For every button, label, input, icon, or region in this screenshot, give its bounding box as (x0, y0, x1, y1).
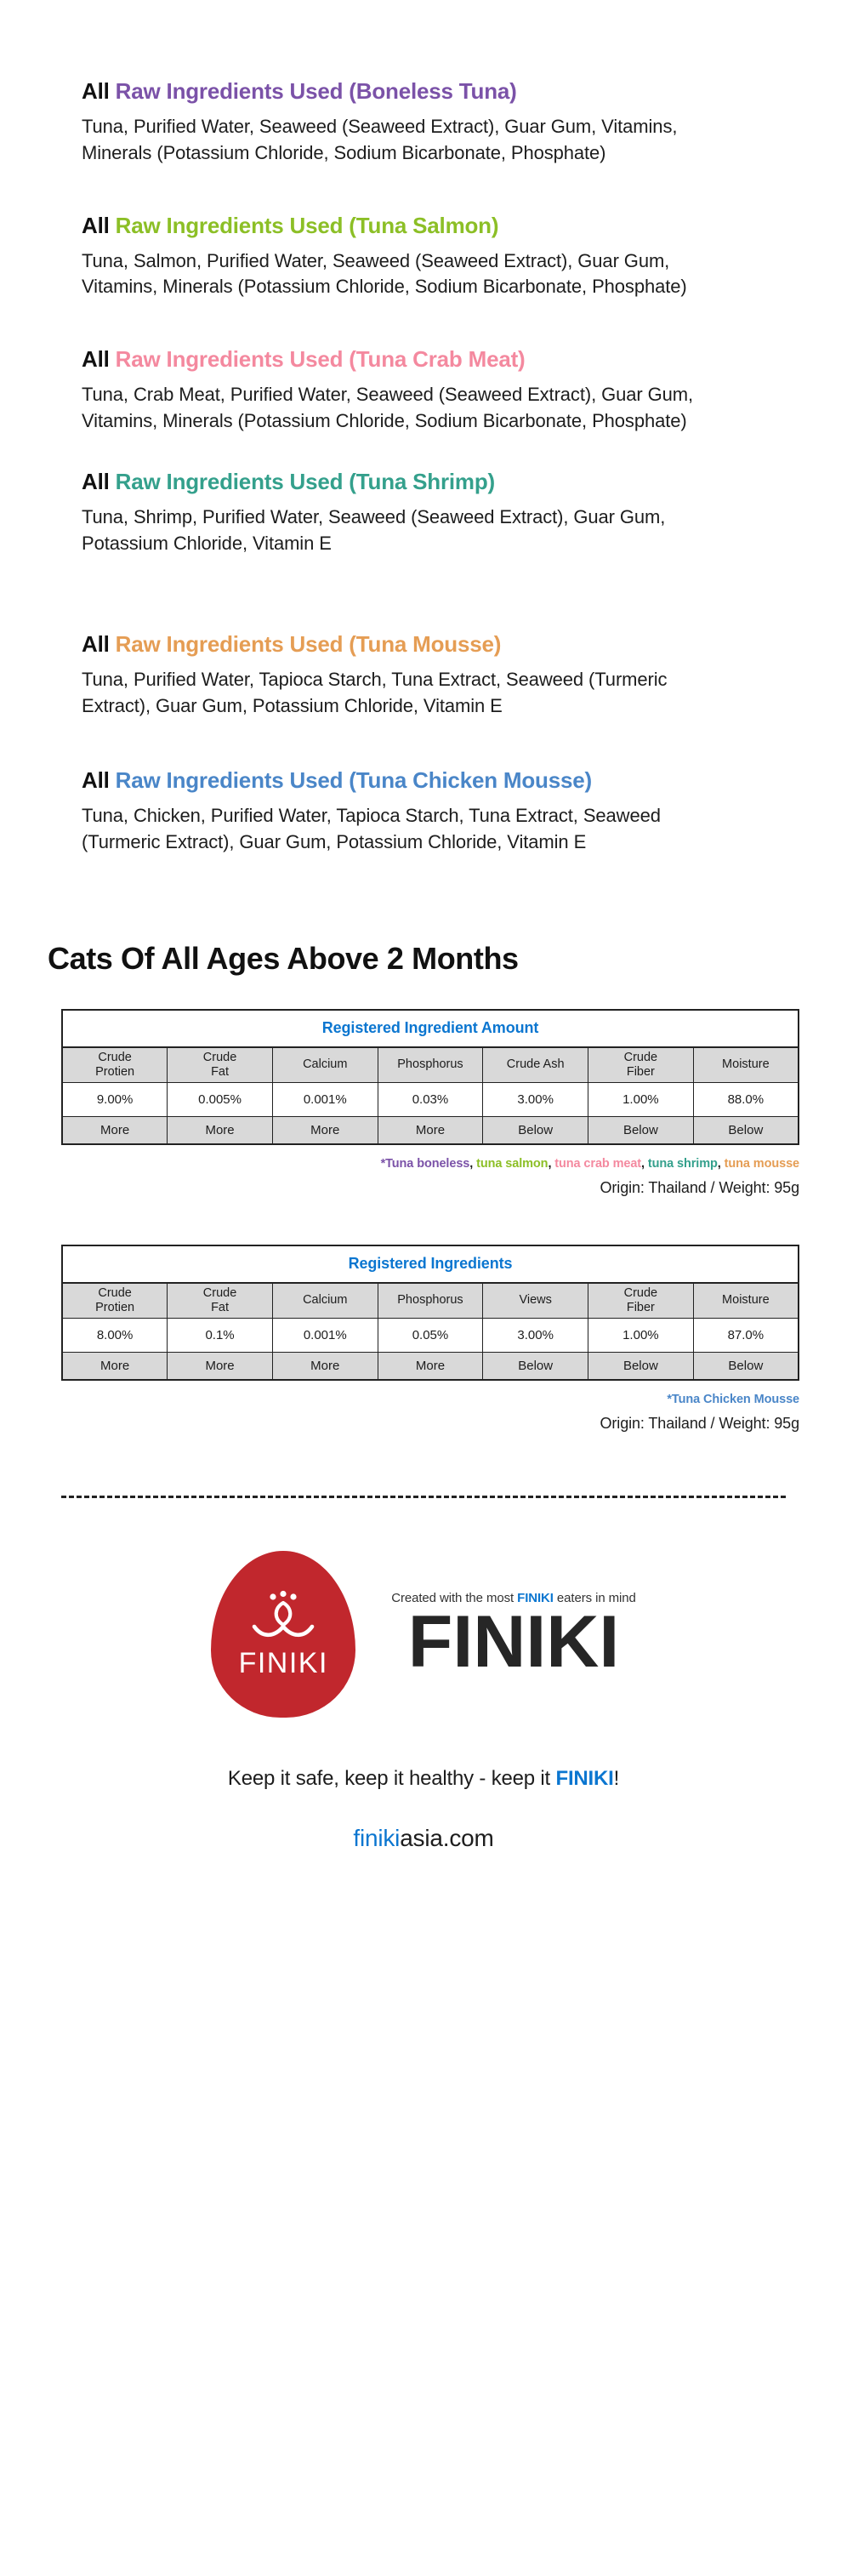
ingredients-section: All Raw Ingredients Used (Boneless Tuna)… (0, 0, 847, 856)
ingredient-block: All Raw Ingredients Used (Tuna Salmon) T… (0, 213, 847, 301)
cell-value: 1.00% (588, 1319, 694, 1353)
column-header: CrudeProtien (62, 1283, 168, 1319)
cell-comparison: Below (483, 1353, 588, 1380)
ingredient-block: All Raw Ingredients Used (Tuna Chicken M… (0, 767, 847, 856)
website-url[interactable]: finikiasia.com (0, 1825, 847, 1852)
cell-value: 0.001% (272, 1083, 378, 1117)
brand-name: FINIKI (408, 1607, 619, 1678)
footnote-part: , (469, 1157, 476, 1171)
website-url-brand: finiki (353, 1825, 400, 1851)
cell-value: 88.0% (693, 1083, 799, 1117)
footnote-part: *Tuna boneless (381, 1157, 470, 1171)
website-url-rest: asia.com (400, 1825, 493, 1851)
cell-comparison: More (272, 1117, 378, 1144)
table-footnote: *Tuna boneless, tuna salmon, tuna crab m… (61, 1157, 799, 1171)
table-row: 9.00% 0.005% 0.001% 0.03% 3.00% 1.00% 88… (62, 1083, 799, 1117)
cell-value: 0.03% (378, 1083, 483, 1117)
ingredient-block: All Raw Ingredients Used (Tuna Mousse) T… (0, 631, 847, 720)
cell-value: 1.00% (588, 1083, 694, 1117)
column-header: Moisture (693, 1283, 799, 1319)
ingredient-title-prefix: All (82, 767, 110, 793)
product-info-page: All Raw Ingredients Used (Boneless Tuna)… (0, 0, 847, 1852)
ingredient-block: All Raw Ingredients Used (Tuna Shrimp) T… (0, 469, 847, 557)
cell-comparison: More (378, 1117, 483, 1144)
footnote-part: tuna salmon (476, 1157, 548, 1171)
cell-comparison: Below (483, 1117, 588, 1144)
column-header: CrudeProtien (62, 1047, 168, 1083)
column-header: CrudeFiber (588, 1047, 694, 1083)
ingredient-title-prefix: All (82, 346, 110, 372)
cell-comparison: More (168, 1353, 273, 1380)
nutrition-tables: Registered Ingredient Amount CrudeProtie… (0, 1009, 847, 1433)
logo-wordmark: FINIKI (239, 1647, 328, 1680)
ingredient-title: All Raw Ingredients Used (Tuna Salmon) (82, 213, 796, 239)
cell-comparison: More (168, 1117, 273, 1144)
cell-value: 87.0% (693, 1319, 799, 1353)
ingredient-list: Tuna, Crab Meat, Purified Water, Seaweed… (82, 382, 694, 435)
footnote-part: *Tuna Chicken Mousse (667, 1393, 799, 1406)
ingredient-title-variant: Raw Ingredients Used (Boneless Tuna) (116, 78, 517, 104)
footnote-part: , (718, 1157, 725, 1171)
ingredient-list: Tuna, Purified Water, Seaweed (Seaweed E… (82, 114, 694, 167)
table-header-row: CrudeProtien CrudeFat Calcium Phosphorus… (62, 1047, 799, 1083)
ingredient-block: All Raw Ingredients Used (Boneless Tuna)… (0, 78, 847, 167)
column-header: Phosphorus (378, 1283, 483, 1319)
cat-face-icon (247, 1589, 319, 1644)
slogan-post: ! (614, 1767, 619, 1790)
cell-comparison: Below (588, 1353, 694, 1380)
table-origin: Origin: Thailand / Weight: 95g (61, 1415, 799, 1433)
column-header: Calcium (272, 1283, 378, 1319)
ingredient-title-variant: Raw Ingredients Used (Tuna Crab Meat) (116, 346, 526, 372)
column-header: CrudeFat (168, 1283, 273, 1319)
cell-comparison: More (378, 1353, 483, 1380)
footnote-part: tuna crab meat (554, 1157, 641, 1171)
slogan: Keep it safe, keep it healthy - keep it … (0, 1767, 847, 1791)
column-header: Phosphorus (378, 1047, 483, 1083)
table-caption: Registered Ingredients (62, 1245, 799, 1283)
table-caption: Registered Ingredient Amount (62, 1010, 799, 1047)
ingredient-title-variant: Raw Ingredients Used (Tuna Salmon) (116, 213, 499, 238)
cell-comparison: Below (693, 1353, 799, 1380)
table-origin: Origin: Thailand / Weight: 95g (61, 1179, 799, 1197)
column-header: Views (483, 1283, 588, 1319)
cell-value: 9.00% (62, 1083, 168, 1117)
cell-comparison: More (62, 1117, 168, 1144)
ingredient-title-variant: Raw Ingredients Used (Tuna Shrimp) (116, 469, 495, 494)
section-heading: Cats Of All Ages Above 2 Months (0, 941, 847, 977)
ingredient-title-prefix: All (82, 78, 110, 104)
ingredient-list: Tuna, Purified Water, Tapioca Starch, Tu… (82, 667, 694, 720)
ingredient-title-variant: Raw Ingredients Used (Tuna Chicken Mouss… (116, 767, 592, 793)
cell-value: 3.00% (483, 1319, 588, 1353)
column-header: CrudeFat (168, 1047, 273, 1083)
slogan-pre: Keep it safe, keep it healthy - keep it (228, 1767, 556, 1790)
footnote-part: tuna mousse (725, 1157, 799, 1171)
cell-value: 0.005% (168, 1083, 273, 1117)
column-header: Moisture (693, 1047, 799, 1083)
cell-comparison: More (62, 1353, 168, 1380)
cell-comparison: More (272, 1353, 378, 1380)
ingredient-title: All Raw Ingredients Used (Boneless Tuna) (82, 78, 796, 105)
footnote-part: tuna shrimp (648, 1157, 718, 1171)
ingredient-list: Tuna, Shrimp, Purified Water, Seaweed (S… (82, 504, 694, 557)
ingredient-title: All Raw Ingredients Used (Tuna Crab Meat… (82, 346, 796, 373)
brand-footer: FINIKI Created with the most FINIKI eate… (0, 1551, 847, 1718)
nutrition-table-2: Registered Ingredients CrudeProtien Crud… (61, 1245, 799, 1381)
cell-value: 0.1% (168, 1319, 273, 1353)
cell-value: 0.05% (378, 1319, 483, 1353)
table-row: More More More More Below Below Below (62, 1353, 799, 1380)
finiki-logo: FINIKI (211, 1551, 355, 1718)
cell-value: 8.00% (62, 1319, 168, 1353)
ingredient-title: All Raw Ingredients Used (Tuna Shrimp) (82, 469, 796, 495)
column-header: CrudeFiber (588, 1283, 694, 1319)
nutrition-table-1: Registered Ingredient Amount CrudeProtie… (61, 1009, 799, 1145)
footnote-part: , (641, 1157, 648, 1171)
cell-value: 3.00% (483, 1083, 588, 1117)
cell-value: 0.001% (272, 1319, 378, 1353)
ingredient-block: All Raw Ingredients Used (Tuna Crab Meat… (0, 346, 847, 435)
table-row: More More More More Below Below Below (62, 1117, 799, 1144)
cell-comparison: Below (588, 1117, 694, 1144)
ingredient-title: All Raw Ingredients Used (Tuna Chicken M… (82, 767, 796, 794)
ingredient-title-prefix: All (82, 213, 110, 238)
ingredient-title-prefix: All (82, 469, 110, 494)
brand-lockup: Created with the most FINIKI eaters in m… (391, 1591, 636, 1678)
dashed-divider (61, 1496, 786, 1498)
cell-comparison: Below (693, 1117, 799, 1144)
table-footnote: *Tuna Chicken Mousse (61, 1393, 799, 1406)
ingredient-title-variant: Raw Ingredients Used (Tuna Mousse) (116, 631, 502, 657)
column-header: Crude Ash (483, 1047, 588, 1083)
table-row: 8.00% 0.1% 0.001% 0.05% 3.00% 1.00% 87.0… (62, 1319, 799, 1353)
slogan-brand: FINIKI (555, 1767, 613, 1790)
table-header-row: CrudeProtien CrudeFat Calcium Phosphorus… (62, 1283, 799, 1319)
column-header: Calcium (272, 1047, 378, 1083)
ingredient-list: Tuna, Chicken, Purified Water, Tapioca S… (82, 803, 694, 856)
spacer (61, 1197, 799, 1245)
ingredient-list: Tuna, Salmon, Purified Water, Seaweed (S… (82, 248, 694, 301)
ingredient-title: All Raw Ingredients Used (Tuna Mousse) (82, 631, 796, 658)
ingredient-title-prefix: All (82, 631, 110, 657)
